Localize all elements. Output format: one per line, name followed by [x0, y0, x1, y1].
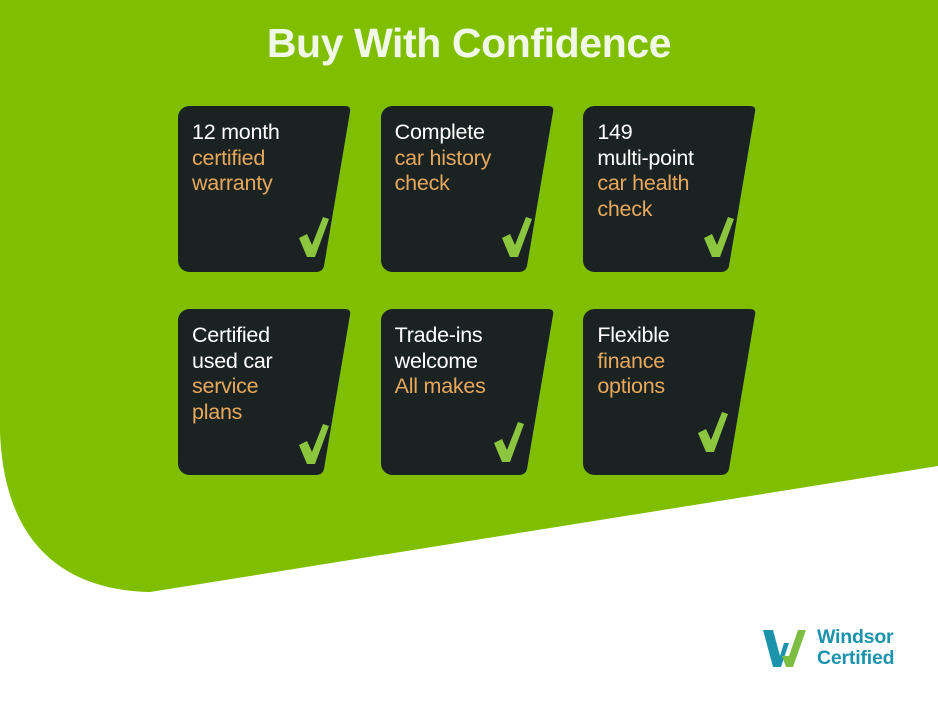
check-icon [296, 421, 330, 465]
feature-card-grid: 12 month certified warranty Complete car… [178, 106, 756, 475]
card-heading-line: multi-point [597, 146, 720, 172]
check-icon [491, 419, 525, 463]
card-heading-line: used car [192, 349, 315, 375]
feature-card-row-1: 12 month certified warranty Complete car… [178, 106, 756, 272]
feature-card-warranty[interactable]: 12 month certified warranty [178, 106, 351, 272]
card-heading-line: Complete [395, 120, 518, 146]
card-accent-line: car health [597, 171, 720, 197]
card-heading-line: 149 [597, 120, 720, 146]
windsor-w-icon [760, 626, 808, 670]
brand-name-line2: Certified [817, 648, 894, 669]
banner-root: Buy With Confidence 12 month certified w… [0, 0, 938, 704]
card-heading-line: Trade-ins [395, 323, 518, 349]
feature-card-row-2: Certified used car service plans Trade-i… [178, 309, 756, 475]
feature-card-service-plans[interactable]: Certified used car service plans [178, 309, 351, 475]
card-heading-line: welcome [395, 349, 518, 375]
card-text: Flexible finance options [597, 323, 720, 400]
card-accent-line: finance [597, 349, 720, 375]
check-icon [296, 214, 330, 258]
card-text: Complete car history check [395, 120, 518, 197]
card-heading-line: Certified [192, 323, 315, 349]
brand-logo[interactable]: Windsor Certified [760, 626, 894, 670]
card-accent-line: check [395, 171, 518, 197]
card-text: Trade-ins welcome All makes [395, 323, 518, 400]
feature-card-trade-ins[interactable]: Trade-ins welcome All makes [381, 309, 554, 475]
card-accent-line: options [597, 374, 720, 400]
card-heading-line: Flexible [597, 323, 720, 349]
feature-card-finance-options[interactable]: Flexible finance options [583, 309, 756, 475]
feature-card-car-history-check[interactable]: Complete car history check [381, 106, 554, 272]
card-accent-line: service [192, 374, 315, 400]
brand-name-line1: Windsor [817, 627, 894, 648]
card-text: 12 month certified warranty [192, 120, 315, 197]
card-accent-line: car history [395, 146, 518, 172]
check-icon [695, 409, 729, 453]
card-accent-line: All makes [395, 374, 518, 400]
card-heading-line: 12 month [192, 120, 315, 146]
feature-card-multi-point-check[interactable]: 149 multi-point car health check [583, 106, 756, 272]
brand-logo-text: Windsor Certified [817, 627, 894, 669]
card-text: 149 multi-point car health check [597, 120, 720, 222]
card-text: Certified used car service plans [192, 323, 315, 425]
check-icon [701, 214, 735, 258]
card-accent-line: certified [192, 146, 315, 172]
check-icon [499, 214, 533, 258]
page-title: Buy With Confidence [0, 20, 938, 67]
card-accent-line: warranty [192, 171, 315, 197]
